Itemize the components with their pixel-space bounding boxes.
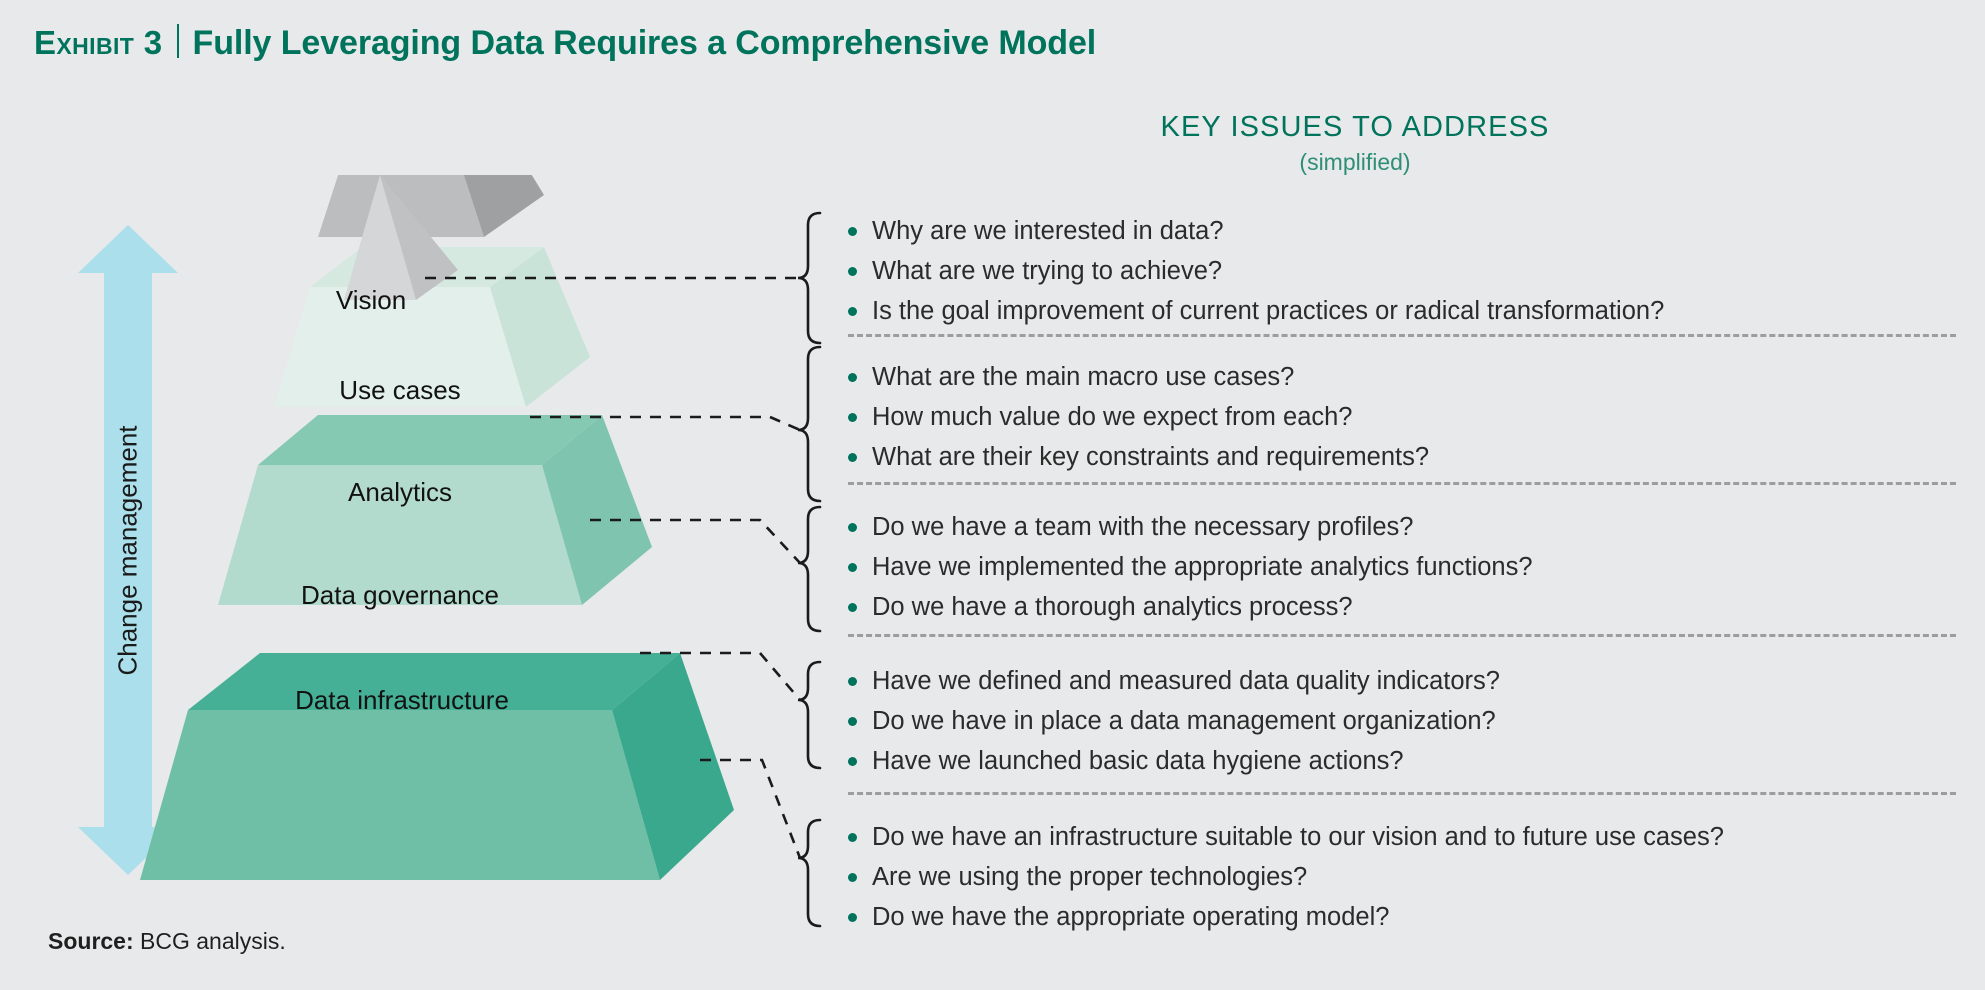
list-item-text: What are the main macro use cases? (872, 358, 1294, 396)
bullet-dot-icon (848, 913, 857, 922)
bullet-dot-icon (848, 603, 857, 612)
key-issues-subtitle: (simplified) (1130, 149, 1580, 176)
pyramid-layer-vision (140, 175, 840, 475)
list-item: Why are we interested in data? (848, 212, 1958, 250)
list-item: Do we have the appropriate operating mod… (848, 898, 1958, 936)
list-item-text: Why are we interested in data? (872, 212, 1224, 250)
list-item-text: Have we launched basic data hygiene acti… (872, 742, 1404, 780)
list-item-text: How much value do we expect from each? (872, 398, 1353, 436)
list-item: Do we have a thorough analytics process? (848, 588, 1958, 626)
source-note: Source: BCG analysis. (48, 928, 286, 955)
list-item-text: Do we have a team with the necessary pro… (872, 508, 1413, 546)
list-item-text: Do we have in place a data management or… (872, 702, 1496, 740)
issue-group-analytics: Do we have a team with the necessary pro… (848, 508, 1958, 628)
list-item: Have we defined and measured data qualit… (848, 662, 1958, 700)
list-item-text: Is the goal improvement of current pract… (872, 292, 1664, 330)
group-separator (848, 334, 1956, 337)
issue-group-data-governance: Have we defined and measured data qualit… (848, 662, 1958, 782)
bullet-dot-icon (848, 677, 857, 686)
issue-group-use-cases: What are the main macro use cases? How m… (848, 358, 1958, 478)
source-text: BCG analysis. (140, 928, 286, 954)
list-item: Have we implemented the appropriate anal… (848, 548, 1958, 586)
bullet-dot-icon (848, 453, 857, 462)
bullet-dot-icon (848, 717, 857, 726)
bullet-dot-icon (848, 833, 857, 842)
list-item: How much value do we expect from each? (848, 398, 1958, 436)
list-item-text: Have we implemented the appropriate anal… (872, 548, 1533, 586)
bullet-dot-icon (848, 267, 857, 276)
list-item: Is the goal improvement of current pract… (848, 292, 1958, 330)
list-item-text: What are we trying to achieve? (872, 252, 1222, 290)
group-separator (848, 482, 1956, 485)
bullet-dot-icon (848, 307, 857, 316)
list-item-text: Do we have an infrastructure suitable to… (872, 818, 1724, 856)
list-item: What are the main macro use cases? (848, 358, 1958, 396)
group-separator (848, 792, 1956, 795)
bullet-dot-icon (848, 757, 857, 766)
bullet-dot-icon (848, 873, 857, 882)
list-item-text: Do we have the appropriate operating mod… (872, 898, 1389, 936)
bullet-dot-icon (848, 373, 857, 382)
group-separator (848, 634, 1956, 637)
list-item-text: What are their key constraints and requi… (872, 438, 1429, 476)
list-item: Do we have a team with the necessary pro… (848, 508, 1958, 546)
title-divider-icon (177, 24, 179, 58)
key-issues-header: KEY ISSUES TO ADDRESS (simplified) (1130, 112, 1580, 176)
list-item: What are their key constraints and requi… (848, 438, 1958, 476)
list-item: Do we have in place a data management or… (848, 702, 1958, 740)
bullet-dot-icon (848, 413, 857, 422)
page-title-text: Fully Leveraging Data Requires a Compreh… (193, 24, 1097, 63)
issue-group-data-infrastructure: Do we have an infrastructure suitable to… (848, 818, 1958, 938)
list-item-text: Do we have a thorough analytics process? (872, 588, 1353, 626)
page-title: Exhibit 3 Fully Leveraging Data Requires… (34, 20, 1096, 63)
bullet-dot-icon (848, 563, 857, 572)
list-item: Do we have an infrastructure suitable to… (848, 818, 1958, 856)
pyramid-layer-data-infrastructure (140, 653, 734, 880)
bullet-dot-icon (848, 227, 857, 236)
list-item: Are we using the proper technologies? (848, 858, 1958, 896)
list-item: What are we trying to achieve? (848, 252, 1958, 290)
issue-group-vision: Why are we interested in data? What are … (848, 212, 1958, 332)
bullet-dot-icon (848, 523, 857, 532)
source-label: Source: (48, 928, 134, 954)
list-item: Have we launched basic data hygiene acti… (848, 742, 1958, 780)
list-item-text: Are we using the proper technologies? (872, 858, 1307, 896)
list-item-text: Have we defined and measured data qualit… (872, 662, 1500, 700)
exhibit-label: Exhibit 3 (34, 24, 163, 62)
key-issues-title: KEY ISSUES TO ADDRESS (1130, 112, 1580, 142)
exhibit-canvas: Exhibit 3 Fully Leveraging Data Requires… (0, 0, 1985, 990)
